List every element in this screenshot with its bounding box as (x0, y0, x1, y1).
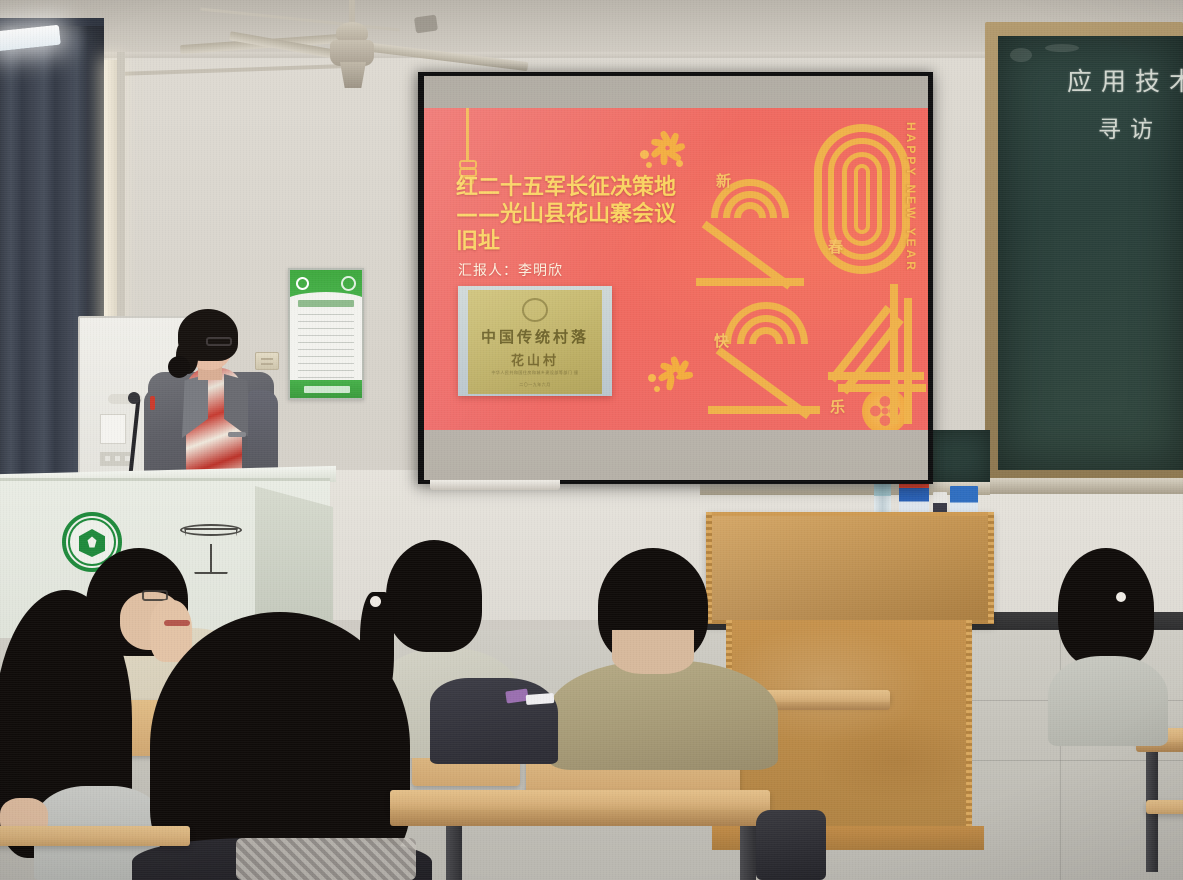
chalkboard (998, 36, 1183, 470)
greeting-char-chun: 春 (828, 236, 843, 257)
cabinet-buttons[interactable] (100, 452, 130, 466)
poster-footer (290, 380, 362, 398)
chalk-smudge (1010, 48, 1032, 62)
happy-new-year-label: HAPPY NEW YEAR (904, 122, 918, 273)
presenter-glasses-icon (206, 337, 232, 346)
desk-shelf (1146, 800, 1183, 814)
chalkboard-line-1: 应用技术 (1067, 62, 1183, 98)
hair-clip-icon (1116, 592, 1126, 602)
digit-two-upper (696, 164, 804, 286)
student-center-right-hair (386, 540, 482, 652)
national-emblem-icon (522, 298, 548, 322)
desk-edge (760, 702, 890, 710)
year-2024-graphic (696, 118, 928, 428)
student-right-body (548, 660, 778, 770)
plaque-board: 中国传统村落 花山村 中华人民共和国住房和城乡建设部等部门 颁 二〇一九年六月 (468, 290, 602, 394)
village-plaque-photo: 中国传统村落 花山村 中华人民共和国住房和城乡建设部等部门 颁 二〇一九年六月 (458, 286, 612, 396)
flower-motif-icon (642, 126, 686, 170)
backpack (756, 810, 826, 880)
presenter-badge (150, 396, 155, 410)
greeting-char-le: 乐 (830, 396, 845, 417)
plaque-sub-text: 花山村 (468, 350, 602, 369)
desk (390, 790, 770, 812)
paper-sheet (526, 693, 555, 705)
poster-title-bar (298, 300, 354, 307)
slide-title: 红二十五军长征决策地——光山县花山寨会议旧址 (456, 174, 688, 255)
classroom-presentation-photo: 应用技术 寻访 (0, 0, 1183, 880)
desk-leg (446, 826, 462, 880)
student-right-neck (612, 630, 694, 674)
poster-seal-icon (341, 276, 356, 291)
poster-body-text (298, 314, 354, 388)
hair-clip-icon (370, 596, 381, 607)
chalkboard-line-2: 寻访 (1098, 110, 1162, 144)
student-far-right-hair (1058, 548, 1154, 668)
microphone-icon (128, 392, 140, 404)
cabinet-panel (100, 414, 126, 444)
screen-roller (430, 480, 560, 490)
wrist-band (164, 620, 190, 626)
hanging-cord (466, 108, 469, 162)
lectern-edge-ridge (988, 512, 994, 624)
desk-edge (390, 810, 770, 826)
desk (0, 826, 190, 846)
plaque-fine-text-1: 中华人民共和国住房和城乡建设部等部门 颁 (468, 370, 602, 376)
student-far-right-body (1048, 656, 1168, 746)
greeting-char-xin: 新 (716, 170, 731, 191)
student-sweater-texture (236, 838, 416, 880)
student-center-jacket (430, 678, 558, 764)
flower-motif-icon (652, 354, 692, 394)
presenter-hair-bun (168, 356, 190, 378)
greeting-char-kuai: 快 (714, 330, 729, 351)
plaque-fine-text-2: 二〇一九年六月 (468, 382, 602, 388)
slide-presenter: 汇报人：李明欣 (458, 260, 563, 280)
desk-leg (740, 826, 756, 880)
wooden-lectern-top (706, 512, 994, 624)
lectern-edge-ridge (966, 620, 972, 826)
presentation-slide: 新 春 快 乐 HAPPY NEW YEAR 红二十五军长征决策地——光山县花山… (424, 108, 928, 430)
poster-logo-icon (296, 277, 309, 290)
wall-notice-poster (288, 268, 364, 400)
plaque-main-text: 中国传统村落 (468, 326, 602, 347)
projection-screen: 新 春 快 乐 HAPPY NEW YEAR 红二十五军长征决策地——光山县花山… (424, 76, 928, 480)
presenter-pocket (228, 432, 246, 437)
chalkboard-ledge (985, 478, 1183, 494)
wall-light-switch[interactable] (255, 352, 279, 370)
chalk-smudge (1045, 44, 1079, 52)
ceiling-patch (414, 15, 438, 34)
